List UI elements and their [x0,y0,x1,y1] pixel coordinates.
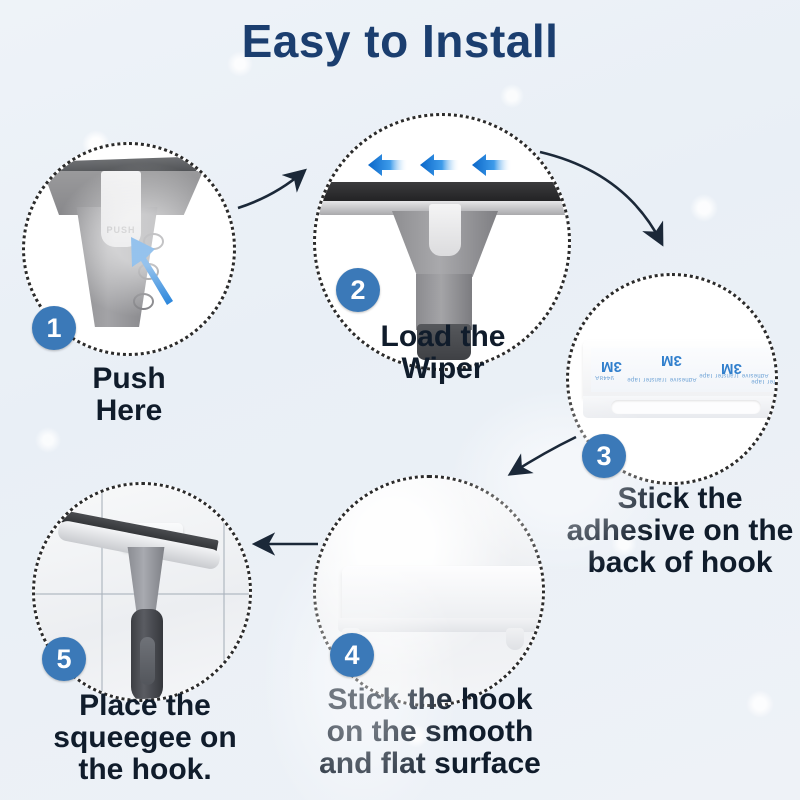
handle-grip [140,637,155,685]
step-3-badge: 3 [582,434,626,478]
push-button [429,204,461,256]
step-3-caption: Stick the adhesive on the back of hook [560,483,800,578]
step-1-badge: 1 [32,306,76,350]
hook-prong-right [506,628,524,650]
connector-3-to-4 [512,437,576,473]
wiper-blade [322,182,568,201]
hook-slot [611,400,761,414]
wall-hook [342,566,542,622]
step-4-badge: 4 [330,633,374,677]
tape-brand-1: 3M [601,358,622,375]
step-2-caption: Load the Wiper [320,321,566,385]
tape-brand-4: 3M [773,354,775,371]
tape-desc-1: Adhesive Transfer Tape [627,376,697,382]
step-1-caption: Push Here [29,363,229,427]
load-direction-arrows-icon [368,150,528,180]
grout-line-vertical-2 [223,485,225,699]
tape-code: 9448A [595,374,614,380]
step-5-badge: 5 [42,637,86,681]
step-4-number: 4 [344,640,359,671]
tape-brand-2: 3M [661,352,682,369]
infographic-page: Easy to Install PUSH 1 Push Here [0,0,800,800]
step-5-caption: Place the squeegee on the hook. [25,690,265,785]
step-2-badge: 2 [336,268,380,312]
step-4-caption: Stick the hook on the smooth and flat su… [305,684,555,779]
step-2-number: 2 [350,275,365,306]
step-3-number: 3 [596,441,611,472]
connector-1-to-2 [238,172,303,208]
adhesive-tape: 3M 3M 3M 3M 9448A Adhesive Transfer Tape… [591,348,775,392]
page-title: Easy to Install [0,14,800,68]
blue-pointer-icon [129,231,199,311]
step-1-number: 1 [46,313,61,344]
tape-desc-3: Adhesive Transfer Tape [751,378,775,384]
step-5-number: 5 [56,644,71,675]
